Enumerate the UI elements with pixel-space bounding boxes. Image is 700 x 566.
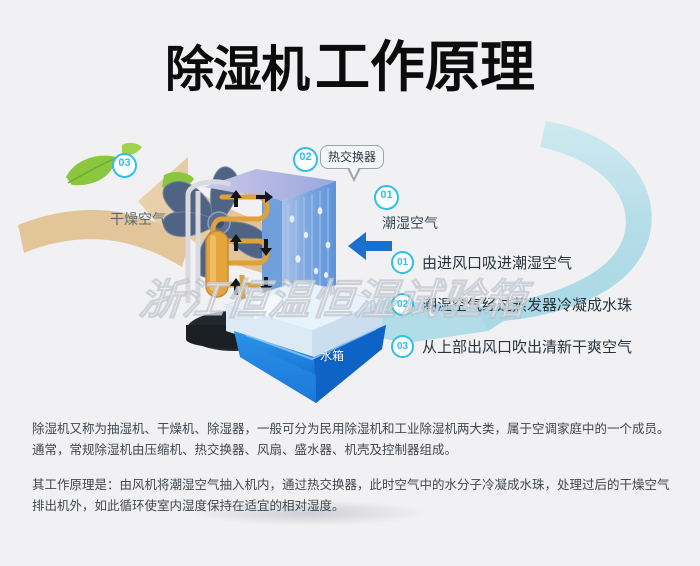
page-title-primary: 除湿机 [165, 41, 309, 98]
page-title: 除湿机工作原理 [0, 22, 700, 102]
heat-exchanger-tooltip: 热交换器 [320, 145, 384, 169]
step-text: 从上部出风口吹出清新干爽空气 [422, 336, 632, 357]
step-text: 由进风口吸进潮湿空气 [422, 252, 572, 273]
badge-02: 02 [293, 147, 318, 172]
badge-01: 01 [374, 185, 399, 210]
step-number: 03 [391, 335, 414, 358]
step-number: 01 [391, 251, 414, 274]
body-paragraph-2: 其工作原理是：由风机将潮湿空气抽入机内，通过热交换器，此时空气中的水分子冷凝成水… [32, 474, 672, 516]
dry-air-label: 干燥空气 [110, 209, 166, 229]
humid-air-label: 潮湿空气 [382, 213, 438, 233]
intake-arrow-icon [348, 232, 392, 260]
body-copy: 除湿机又称为抽湿机、干燥机、除湿器，一般可分为民用除湿机和工业除湿机两大类，属于… [32, 418, 672, 516]
page-title-secondary: 工作原理 [315, 36, 535, 98]
list-item: 03 从上部出风口吹出清新干爽空气 [391, 334, 691, 359]
list-item: 01 由进风口吸进潮湿空气 [391, 250, 691, 275]
body-paragraph-1: 除湿机又称为抽湿机、干燥机、除湿器，一般可分为民用除湿机和工业除湿机两大类，属于… [32, 418, 672, 460]
step-text: 潮湿空气经过蒸发器冷凝成水珠 [422, 294, 632, 315]
infographic-page: 除湿机工作原理 [0, 0, 700, 566]
water-tank-label: 水箱 [320, 347, 344, 364]
step-number: 02 [391, 293, 414, 316]
list-item: 02 潮湿空气经过蒸发器冷凝成水珠 [391, 292, 691, 317]
badge-03: 03 [112, 153, 137, 178]
step-list: 01 由进风口吸进潮湿空气 02 潮湿空气经过蒸发器冷凝成水珠 03 从上部出风… [391, 250, 691, 376]
